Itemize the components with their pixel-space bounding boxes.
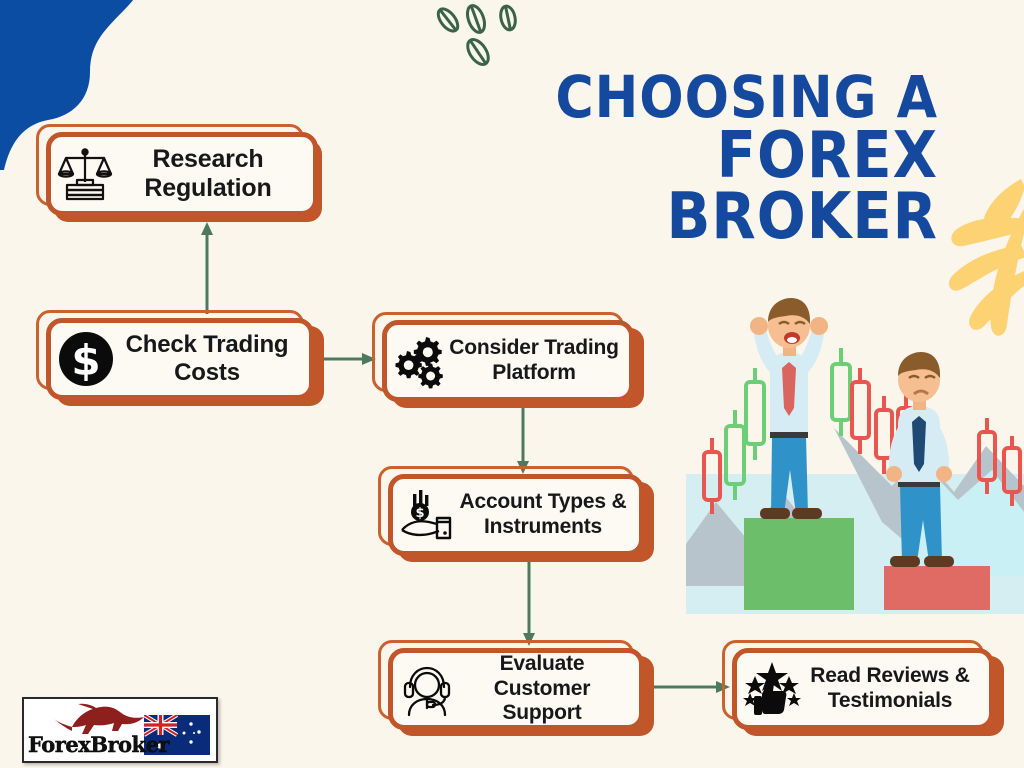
- flow-node-account-types-instruments[interactable]: $ Account Types & Instruments: [378, 466, 654, 562]
- flow-node-check-trading-costs[interactable]: $ Check Trading Costs: [36, 310, 324, 406]
- node-card[interactable]: $ Check Trading Costs: [46, 318, 314, 400]
- node-label: Read Reviews & Testimonials: [801, 664, 979, 714]
- node-card[interactable]: $ Account Types & Instruments: [388, 474, 644, 556]
- connector-support-to-reviews: [646, 676, 732, 698]
- two-traders-illustration: [686, 286, 1024, 618]
- scales-of-justice-icon: [57, 146, 113, 202]
- node-label-line2: Instruments: [484, 515, 602, 538]
- flow-node-consider-trading-platform[interactable]: Consider Trading Platform: [372, 312, 644, 408]
- node-label-line1: Check Trading: [126, 331, 289, 358]
- node-label-line2: Testimonials: [828, 689, 952, 712]
- flow-node-research-regulation[interactable]: Research Regulation: [36, 124, 322, 222]
- node-label: Account Types & Instruments: [457, 490, 629, 540]
- node-label-line2: Costs: [174, 359, 240, 386]
- title-line-1: Choosing a: [498, 70, 938, 126]
- connector-account-to-support: [518, 558, 540, 648]
- node-label-line1: Read Reviews &: [810, 664, 969, 687]
- node-card[interactable]: Consider Trading Platform: [382, 320, 634, 402]
- node-label-line2: Regulation: [144, 174, 271, 202]
- node-card[interactable]: Research Regulation: [46, 132, 318, 216]
- connector-costs-to-research: [196, 220, 218, 314]
- title-line-2: Forex: [498, 126, 938, 187]
- hand-with-money-icon: $: [399, 486, 457, 544]
- node-label-line1: Evaluate Customer: [494, 652, 590, 700]
- node-label-line1: Research: [153, 145, 264, 173]
- node-label: Consider Trading Platform: [449, 336, 619, 386]
- page-title: Choosing a Forex Broker: [498, 70, 938, 249]
- logo-text: ForexBroker: [28, 732, 169, 757]
- infographic-canvas: Choosing a Forex Broker: [0, 0, 1024, 768]
- node-label-line1: Consider Trading: [449, 336, 619, 359]
- node-label-line1: Account Types &: [460, 490, 627, 513]
- node-label-line2: Platform: [492, 361, 576, 384]
- stars-thumbs-up-icon: [743, 660, 801, 718]
- node-label: Evaluate Customer Support: [455, 652, 629, 726]
- svg-text:$: $: [71, 336, 100, 385]
- leaf-decorations: [430, 2, 540, 72]
- flow-node-read-reviews-testimonials[interactable]: Read Reviews & Testimonials: [722, 640, 1004, 736]
- node-card[interactable]: Read Reviews & Testimonials: [732, 648, 994, 730]
- flow-node-evaluate-customer-support[interactable]: Evaluate Customer Support: [378, 640, 654, 736]
- node-card[interactable]: Evaluate Customer Support: [388, 648, 644, 730]
- dollar-coin-icon: $: [57, 330, 115, 388]
- node-label: Check Trading Costs: [115, 331, 299, 388]
- gears-icon: [393, 333, 449, 389]
- forexbroker-logo[interactable]: ForexBroker: [22, 697, 218, 763]
- headset-agent-icon: [399, 661, 455, 717]
- title-line-3: Broker: [498, 187, 938, 248]
- node-label: Research Regulation: [113, 145, 303, 204]
- node-label-line2: Support: [502, 701, 581, 724]
- svg-text:$: $: [415, 506, 424, 521]
